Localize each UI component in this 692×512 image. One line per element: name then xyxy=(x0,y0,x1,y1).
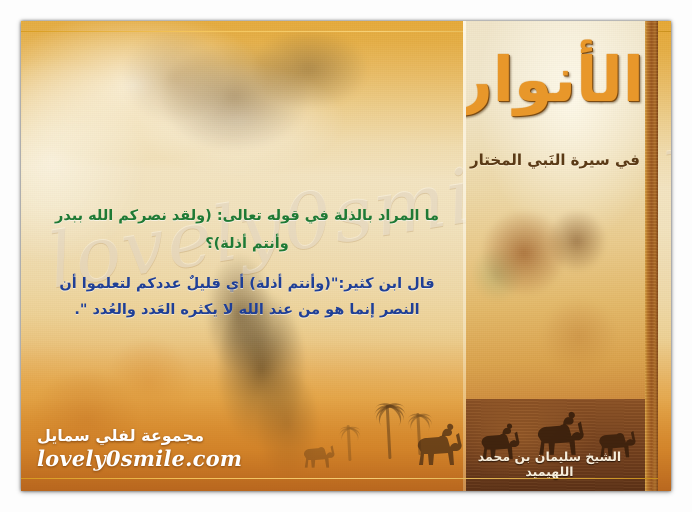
poster-card: lovely0smile.com ما المراد بالذلة في قول… xyxy=(0,0,692,512)
camel-icon xyxy=(296,437,340,469)
page-title: الأنوار xyxy=(466,47,644,112)
question-line-1: ما المراد بالذلة في قوله تعالى: (ولقد نص… xyxy=(47,203,447,229)
brand-arabic-label: مجموعة لفلي سمايل xyxy=(37,426,242,445)
gold-rule-bottom xyxy=(21,478,658,479)
question-line-2: وأنتم أذلة)؟ xyxy=(47,231,447,257)
answer-line-2: النصر إنما هو من عند الله لا يكثره العَد… xyxy=(47,297,447,323)
content-text-block: ما المراد بالذلة في قوله تعالى: (ولقد نص… xyxy=(47,203,447,323)
brand-block: مجموعة لفلي سمايل lovely0smile.com xyxy=(37,426,242,471)
panel-right-edge xyxy=(645,21,658,491)
poster-artwork: lovely0smile.com ما المراد بالذلة في قول… xyxy=(21,21,671,491)
page-subtitle: في سيرة النَبي المختار xyxy=(466,151,644,169)
camel-rider-icon xyxy=(409,421,467,467)
palm-tree-icon xyxy=(373,405,407,459)
author-credit: الشيخ سليمان بن محمد اللهيميد xyxy=(472,449,627,479)
answer-line-1: قال ابن كثير:"(وأنتم أذلة) أي قليلٌ عددك… xyxy=(47,271,447,297)
title-panel: الأنوار في سيرة النَبي المختار xyxy=(466,21,658,491)
brand-url-label[interactable]: lovely0smile.com xyxy=(37,446,242,471)
panel-edge-grain xyxy=(645,21,658,491)
palm-tree-icon xyxy=(339,425,361,461)
